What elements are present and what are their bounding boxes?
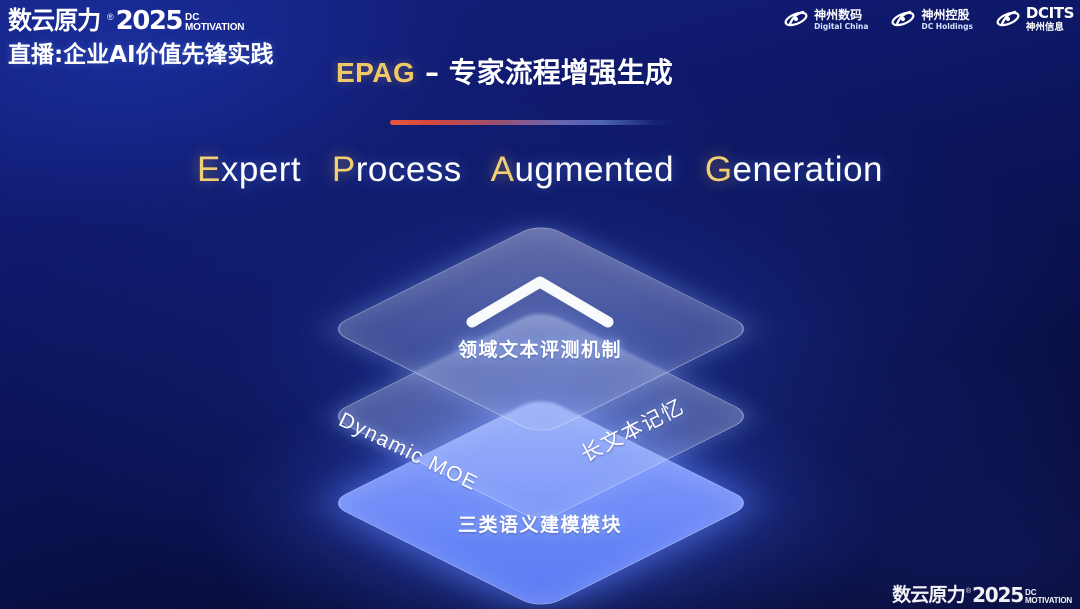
- layered-architecture-diagram: 领域文本评测机制 Dynamic MOE 长文本记忆 三类语义建模模块: [0, 222, 1080, 582]
- chevron-up-icon: [464, 272, 616, 330]
- digital-china-swirl-icon: [783, 8, 809, 30]
- word-initial: A: [491, 150, 515, 189]
- watermark-brand-cn: 数云原力: [892, 585, 965, 605]
- word-rest: eneration: [733, 150, 883, 189]
- watermark-year: 2025: [972, 585, 1023, 605]
- partner-logo-text: 神州数码 Digital China: [814, 9, 868, 31]
- partner-logo-digital-china: 神州数码 Digital China: [783, 8, 868, 30]
- partner-name-secondary: DC Holdings: [921, 23, 972, 31]
- header-left-block: 数云原力 ® 2025 DC MOTIVATION 直播:企业AI价值先锋实践: [8, 4, 338, 70]
- partner-name-primary: 神州控股: [921, 9, 972, 21]
- title-divider: [390, 120, 678, 125]
- english-word-2: Process: [332, 150, 462, 189]
- word-initial: E: [197, 150, 221, 189]
- live-stream-title: 直播:企业AI价值先锋实践: [8, 40, 338, 70]
- partner-logo-dc-holdings: 神州控股 DC Holdings: [890, 8, 972, 30]
- word-rest: ugmented: [514, 150, 674, 189]
- partner-logo-text: 神州控股 DC Holdings: [921, 9, 972, 31]
- dc-holdings-swirl-icon: [890, 8, 916, 30]
- word-space-1: [311, 150, 321, 189]
- watermark-dc-motivation: DC MOTIVATION: [1025, 589, 1072, 605]
- title-dash: –: [425, 56, 439, 89]
- partner-name-secondary: Digital China: [814, 23, 868, 31]
- footer-watermark: 数云原力 ® 2025 DC MOTIVATION: [892, 585, 1072, 605]
- brand-motivation-word: MOTIVATION: [185, 23, 244, 33]
- slide-title: EPAG – 专家流程增强生成: [336, 55, 673, 91]
- word-initial: G: [705, 150, 733, 189]
- partner-name-primary: DCITS: [1026, 6, 1074, 21]
- partner-name-primary: 神州数码: [814, 9, 868, 21]
- brand-name-cn: 数云原力: [8, 8, 100, 34]
- word-initial: P: [332, 150, 356, 189]
- word-rest: rocess: [356, 150, 462, 189]
- partner-logo-dcits: DCITS 神州信息: [995, 6, 1074, 33]
- layer-label-bottom: 三类语义建模模块: [458, 510, 622, 537]
- title-chinese: 专家流程增强生成: [449, 56, 673, 89]
- brand-year: 2025: [116, 8, 182, 34]
- word-rest: xpert: [221, 150, 301, 189]
- watermark-motivation-word: MOTIVATION: [1025, 597, 1072, 605]
- word-space-3: [684, 150, 694, 189]
- title-english-expansion: Expert Process Augmented Generation: [0, 150, 1080, 190]
- partner-name-secondary: 神州信息: [1026, 23, 1074, 33]
- slide-canvas: 数云原力 ® 2025 DC MOTIVATION 直播:企业AI价值先锋实践 …: [0, 0, 1080, 609]
- layer-label-top: 领域文本评测机制: [458, 335, 622, 362]
- brand-registered-mark: ®: [107, 10, 114, 24]
- partner-logo-bar: 神州数码 Digital China 神州控股 DC Holdings: [783, 6, 1074, 33]
- event-brand-logo: 数云原力 ® 2025 DC MOTIVATION: [8, 4, 338, 34]
- dcits-swirl-icon: [995, 8, 1021, 30]
- brand-dc-motivation: DC MOTIVATION: [185, 13, 244, 33]
- watermark-registered-mark: ®: [966, 586, 971, 598]
- title-acronym: EPAG: [336, 57, 415, 88]
- partner-logo-text: DCITS 神州信息: [1026, 6, 1074, 33]
- english-word-3: Augmented: [491, 150, 675, 189]
- english-word-4: Generation: [705, 150, 883, 189]
- english-word-1: Expert: [197, 150, 301, 189]
- word-space-2: [472, 150, 482, 189]
